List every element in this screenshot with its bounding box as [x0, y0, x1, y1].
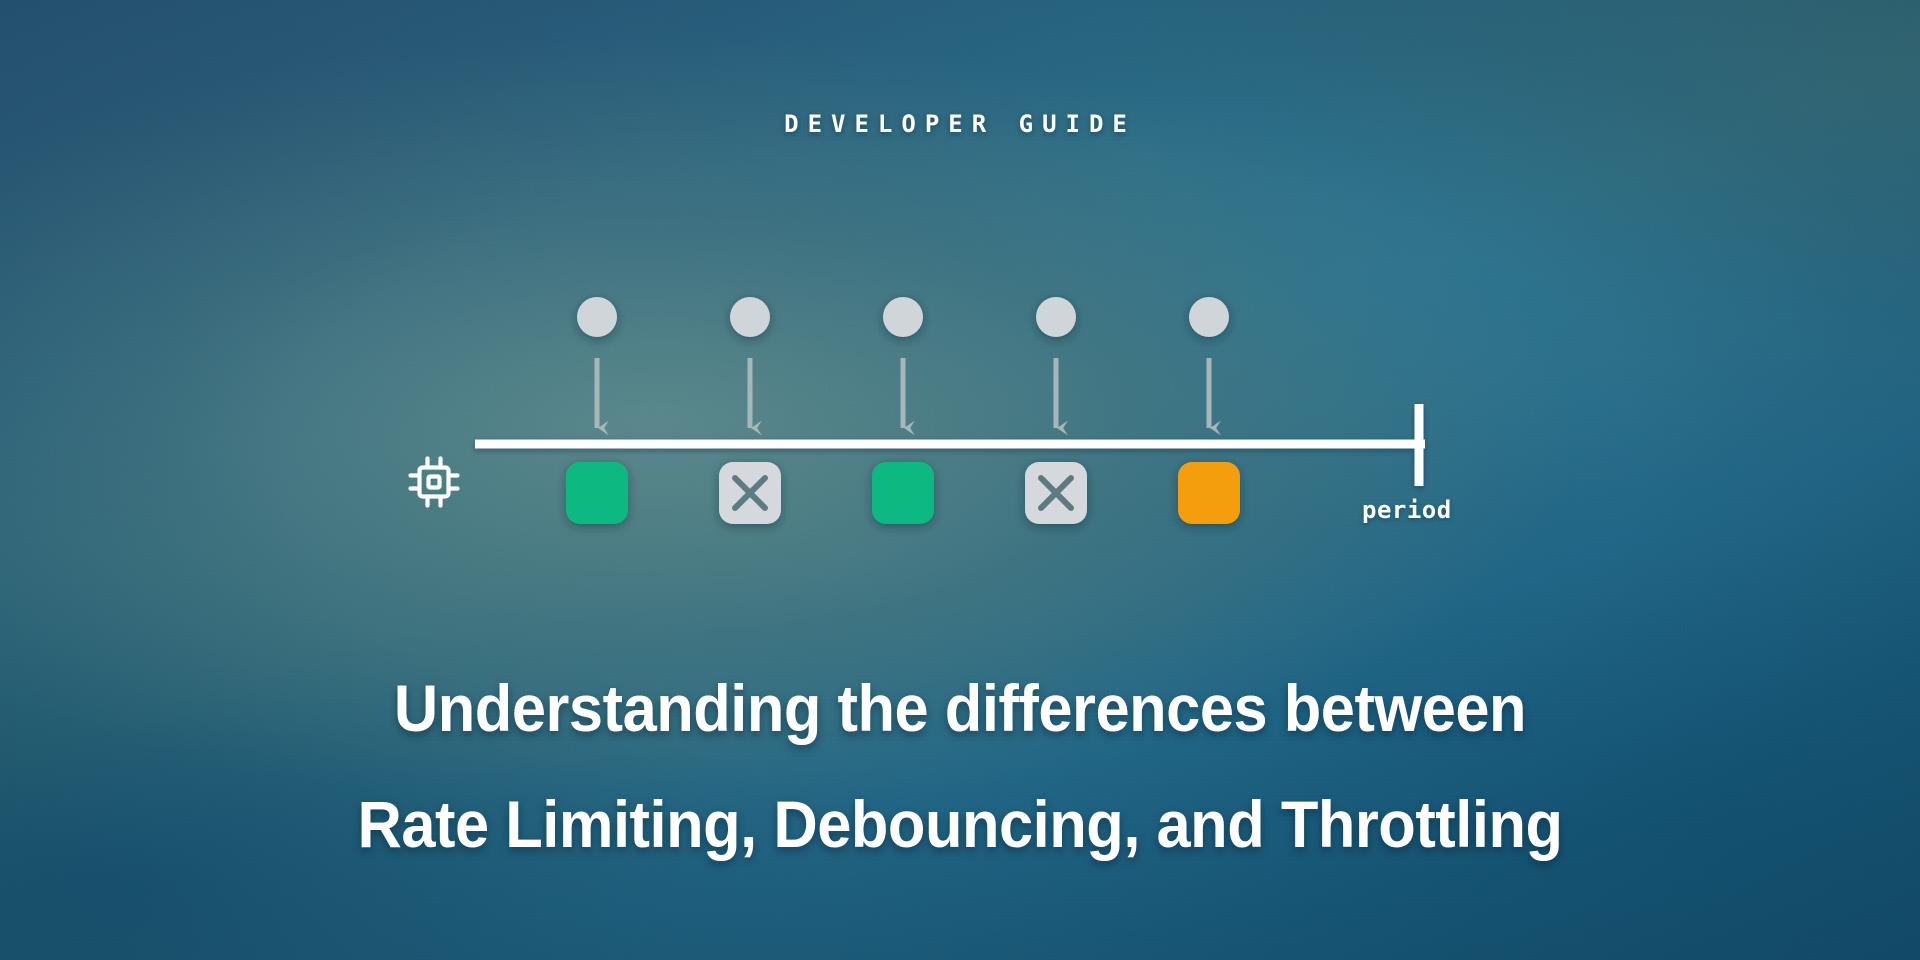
page-title: Understanding the differences between Ra…: [67, 650, 1853, 882]
period-boundary-markers: [560, 330, 1172, 400]
eyebrow-label: DEVELOPER GUIDE: [0, 110, 1920, 138]
request-circle-4: [1036, 297, 1076, 337]
outcome-square-allowed-1: [566, 462, 628, 524]
outcome-square-queued-5: [1178, 462, 1240, 524]
page-title-line-1: Understanding the differences between: [67, 650, 1853, 766]
outcome-square-blocked-2: [719, 462, 781, 524]
request-circles: [577, 297, 1229, 337]
request-arrows: [597, 358, 1209, 428]
request-circle-2: [730, 297, 770, 337]
request-circle-5: [1189, 297, 1229, 337]
page-title-line-2: Rate Limiting, Debouncing, and Throttlin…: [67, 766, 1853, 882]
outcome-square-allowed-3: [872, 462, 934, 524]
rate-limiting-diagram: [0, 270, 1920, 560]
request-circle-1: [577, 297, 617, 337]
cpu-chip-icon: [404, 452, 464, 512]
request-circle-3: [883, 297, 923, 337]
outcome-square-blocked-4: [1025, 462, 1087, 524]
outcome-squares: [566, 462, 1240, 524]
diagram-svg: [0, 270, 1920, 560]
cpu-chip-icon-svg: [404, 452, 464, 512]
period-label: period: [1362, 496, 1452, 524]
cover-content: DEVELOPER GUIDE: [0, 0, 1920, 960]
